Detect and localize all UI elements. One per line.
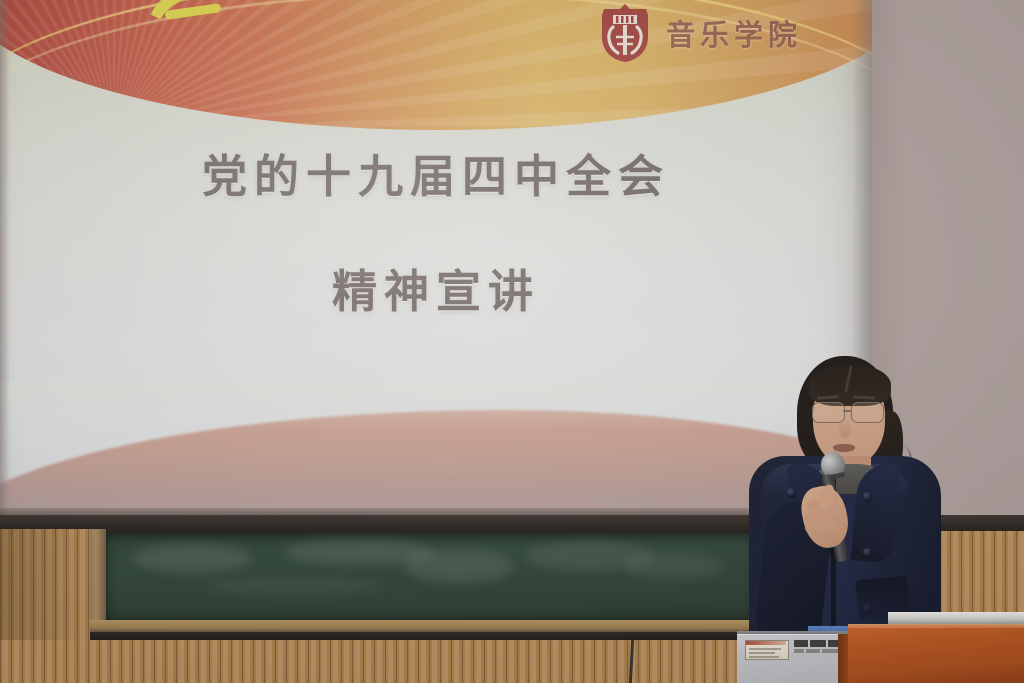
mouth [833,444,855,452]
coat-button [863,548,872,557]
presenter [735,352,945,652]
academy-logo: 音乐学院 [596,2,842,64]
nose [839,420,851,438]
podium [848,626,1024,683]
music-academy-shield-icon [596,3,654,63]
lecture-hall-photo: 音乐学院 党的十九届四中全会 精神宣讲 [0,0,1024,683]
coat-button [787,488,796,497]
laptop-toolbar-secondary[interactable] [794,649,840,653]
slide-title: 党的十九届四中全会 [0,140,872,205]
screen-edge-left [0,0,10,516]
slide-subtitle: 精神宣讲 [0,255,872,320]
wood-panel-bottom [0,640,800,683]
coat-button [863,492,872,501]
eyeglass-lens-left [812,402,845,423]
eyeglass-lens-right [851,402,884,423]
laptop-dialog-titlebar [746,641,786,645]
eyeglass-bridge [843,410,851,412]
academy-logo-text: 音乐学院 [666,12,802,54]
laptop-dialog-text-line [749,648,781,650]
laptop-dialog-text-line [749,656,779,658]
laptop-dialog-text-line [749,652,775,654]
chalkboard-side-rail [88,529,106,625]
hammer-and-sickle-icon [146,0,238,38]
eyeglasses [809,402,891,424]
chalkboard-surface [104,533,756,623]
